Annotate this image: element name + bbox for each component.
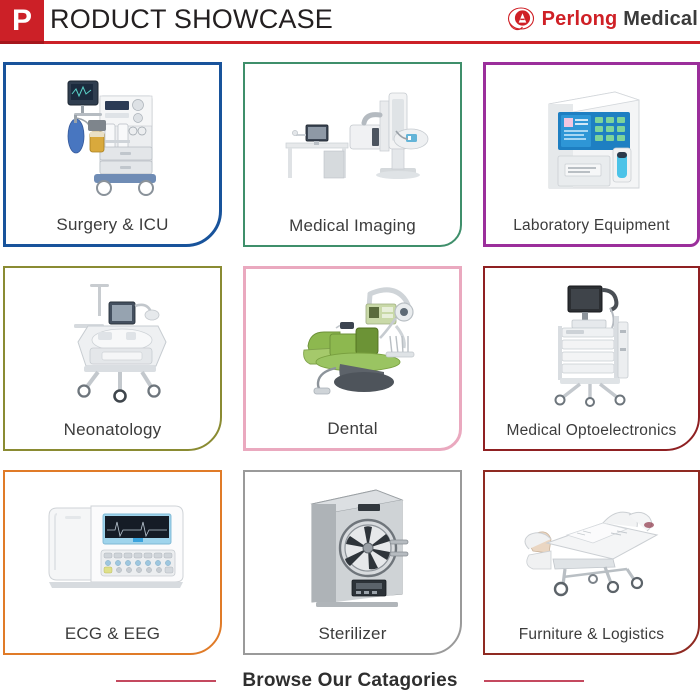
category-card-ecg-eeg[interactable]: ECG & EEG xyxy=(3,470,222,655)
footer-text: Browse Our Catagories xyxy=(242,670,457,692)
category-card-furniture-logistics[interactable]: Furniture & Logistics xyxy=(483,470,700,655)
header-rule-left xyxy=(0,41,44,44)
category-label: Sterilizer xyxy=(245,624,460,653)
category-label: Neonatology xyxy=(5,420,220,449)
x-ray-system-image xyxy=(245,68,460,209)
category-card-medical-optoelectronics[interactable]: Medical Optoelectronics xyxy=(483,266,700,451)
category-label: Medical Imaging xyxy=(245,216,460,245)
brand-name: Perlong xyxy=(542,8,618,30)
category-card-sterilizer[interactable]: Sterilizer xyxy=(243,470,462,655)
hematology-analyzer-image xyxy=(486,69,697,208)
product-showcase-page: P RODUCT SHOWCASE Perlong Medical xyxy=(0,0,700,700)
category-label: Dental xyxy=(246,419,459,448)
category-card-neonatology[interactable]: Neonatology xyxy=(3,266,222,451)
page-header: P RODUCT SHOWCASE Perlong Medical xyxy=(0,0,700,46)
category-label: Medical Optoelectronics xyxy=(485,422,698,449)
footer-line-right xyxy=(484,680,584,682)
hospital-bed-image xyxy=(485,476,698,617)
category-card-surgery-icu[interactable]: Surgery & ICU xyxy=(3,62,222,247)
category-label: Furniture & Logistics xyxy=(485,626,698,653)
header-initial-badge: P xyxy=(0,0,44,42)
footer-line-left xyxy=(116,680,216,682)
category-grid: Surgery & ICU xyxy=(3,62,698,655)
ecg-machine-image xyxy=(5,476,220,617)
category-card-medical-imaging[interactable]: Medical Imaging xyxy=(243,62,462,247)
brand-suffix: Medical xyxy=(623,8,698,30)
brand-logo-text: Perlong Medical xyxy=(542,8,698,31)
category-label: ECG & EEG xyxy=(5,624,220,653)
page-title: RODUCT SHOWCASE xyxy=(50,4,333,35)
category-label: Laboratory Equipment xyxy=(486,217,697,244)
footer-browse-categories[interactable]: Browse Our Catagories xyxy=(0,670,700,692)
category-card-laboratory-equipment[interactable]: Laboratory Equipment xyxy=(483,62,700,247)
perlong-circle-a-icon xyxy=(507,6,537,32)
brand-logo[interactable]: Perlong Medical xyxy=(507,6,698,32)
autoclave-sterilizer-image xyxy=(245,476,460,617)
category-card-dental[interactable]: Dental xyxy=(243,266,462,451)
header-rule xyxy=(44,41,700,44)
infant-incubator-image xyxy=(5,272,220,413)
dental-chair-unit-image xyxy=(246,273,459,412)
category-label: Surgery & ICU xyxy=(6,215,219,244)
anesthesia-machine-image xyxy=(6,69,219,208)
endoscopy-tower-image xyxy=(485,272,698,413)
